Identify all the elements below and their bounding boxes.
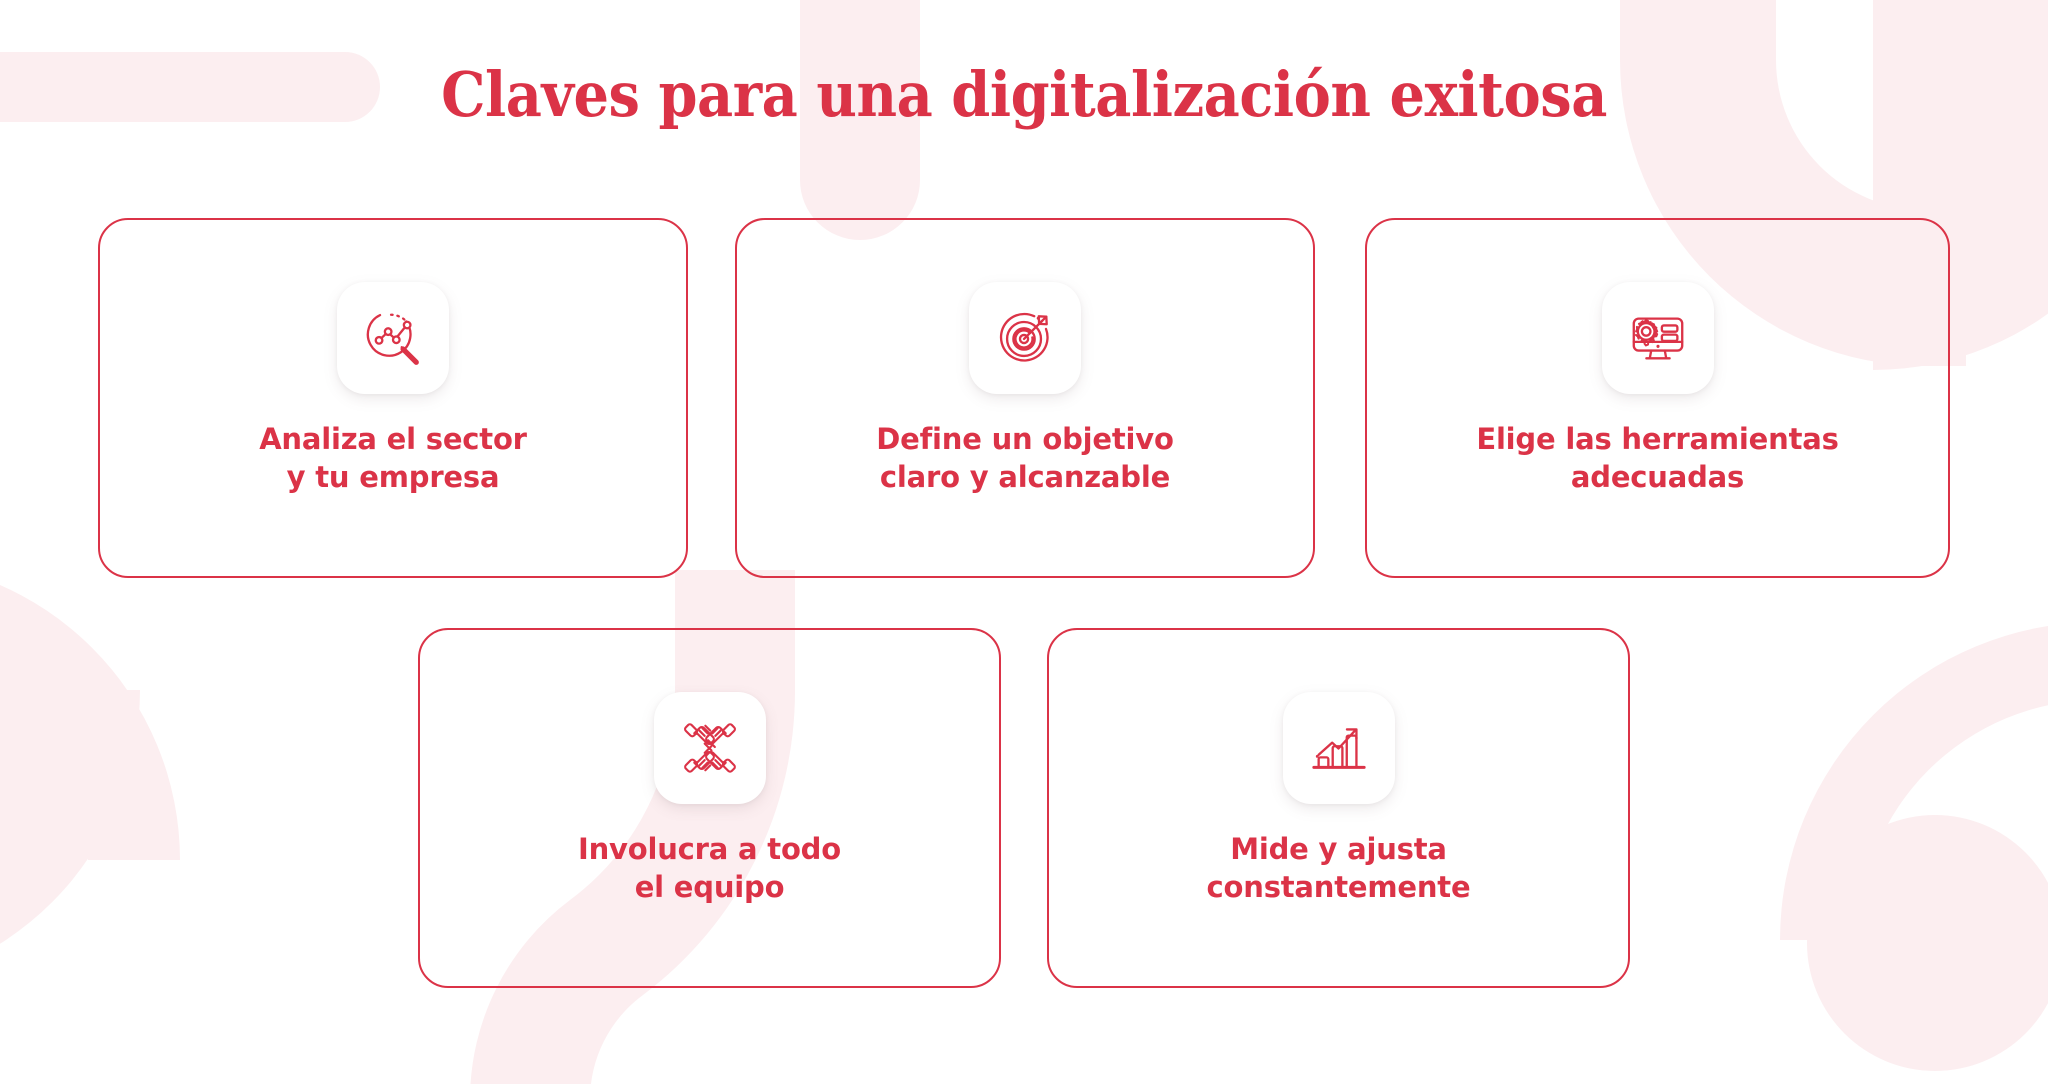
card-label-elige-las-herramientas: Elige las herramientas adecuadas: [1367, 420, 1948, 497]
growth-bar-chart-icon: [1308, 717, 1370, 779]
icon-tile-elige-las-herramientas: [1602, 282, 1714, 394]
card-elige-las-herramientas[interactable]: Elige las herramientas adecuadas: [1365, 218, 1950, 578]
card-label-analiza-el-sector: Analiza el sector y tu empresa: [100, 420, 686, 497]
card-label-involucra-al-equipo: Involucra a todo el equipo: [420, 830, 999, 907]
icon-tile-analiza-el-sector: [337, 282, 449, 394]
card-mide-y-ajusta[interactable]: Mide y ajusta constantemente: [1047, 628, 1630, 988]
card-label-define-un-objetivo: Define un objetivo claro y alcanzable: [737, 420, 1313, 497]
monitor-gear-icon: [1627, 307, 1689, 369]
page-title: Claves para una digitalización exitosa: [102, 58, 1945, 131]
teamwork-hands-icon: [679, 717, 741, 779]
card-label-mide-y-ajusta: Mide y ajusta constantemente: [1049, 830, 1628, 907]
icon-tile-mide-y-ajusta: [1283, 692, 1395, 804]
target-arrow-icon: [994, 307, 1056, 369]
chart-magnifier-icon: [362, 307, 424, 369]
icon-tile-define-un-objetivo: [969, 282, 1081, 394]
card-involucra-al-equipo[interactable]: Involucra a todo el equipo: [418, 628, 1001, 988]
icon-tile-involucra-al-equipo: [654, 692, 766, 804]
card-analiza-el-sector[interactable]: Analiza el sector y tu empresa: [98, 218, 688, 578]
card-define-un-objetivo[interactable]: Define un objetivo claro y alcanzable: [735, 218, 1315, 578]
infographic-stage: Claves para una digitalización exitosa A…: [0, 0, 2048, 1084]
